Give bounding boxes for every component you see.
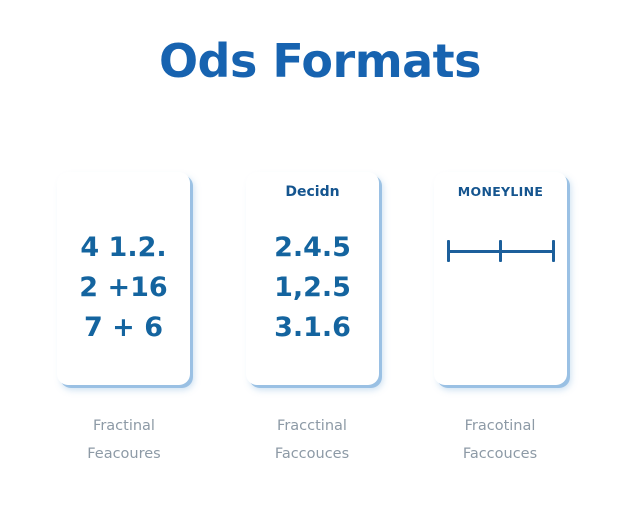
format-card-moneyline[interactable]: MONEYLINE [434, 172, 567, 385]
caption-line: Feacoures [44, 440, 204, 468]
format-card-decimal[interactable]: Decidn 2.4.5 1,2.5 3.1.6 [246, 172, 379, 385]
card-values-1: 4 1.2. 2 +16 7 + 6 [57, 228, 190, 348]
caption-line: Fracctinal [232, 412, 392, 440]
caption-line: Faccouces [420, 440, 580, 468]
cards-row: 4 1.2. 2 +16 7 + 6 Decidn 2.4.5 1,2.5 3.… [0, 172, 640, 388]
page-root: Ods Formats 4 1.2. 2 +16 7 + 6 Decidn 2.… [0, 0, 640, 512]
value-row: 1,2.5 [246, 268, 379, 308]
caption-line: Fractinal [44, 412, 204, 440]
value-row: 4 1.2. [57, 228, 190, 268]
scale-tick-right [552, 240, 555, 262]
scale-tick-left [447, 240, 450, 262]
caption-line: Faccouces [232, 440, 392, 468]
card-values-2: 2.4.5 1,2.5 3.1.6 [246, 228, 379, 348]
card-caption-2: Fracctinal Faccouces [232, 412, 392, 468]
value-row: 2.4.5 [246, 228, 379, 268]
captions-row: Fractinal Feacoures Fracctinal Faccouces… [0, 412, 640, 482]
caption-line: Fracotinal [420, 412, 580, 440]
value-row: 3.1.6 [246, 308, 379, 348]
card-header-3: MONEYLINE [434, 184, 567, 199]
horizontal-scale-icon [434, 234, 567, 268]
format-card-fractional[interactable]: 4 1.2. 2 +16 7 + 6 [57, 172, 190, 385]
scale-tick-middle [499, 240, 502, 262]
card-header-2: Decidn [246, 184, 379, 200]
page-title: Ods Formats [0, 34, 640, 88]
card-caption-3: Fracotinal Faccouces [420, 412, 580, 468]
card-caption-1: Fractinal Feacoures [44, 412, 204, 468]
value-row: 7 + 6 [57, 308, 190, 348]
value-row: 2 +16 [57, 268, 190, 308]
